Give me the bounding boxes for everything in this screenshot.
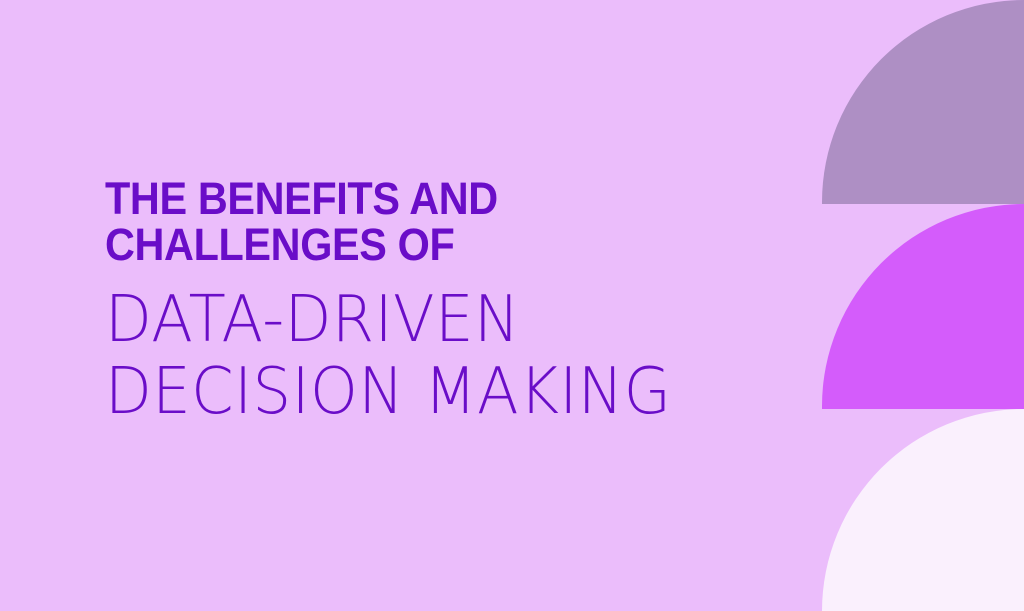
quarter-circle-mauve-shape [822,0,1024,204]
title-text-block: THE BENEFITS AND CHALLENGES OF DATA-DRIV… [105,176,745,428]
page-title-headline: THE BENEFITS AND CHALLENGES OF [105,176,694,268]
page-title-subject: DATA-DRIVEN DECISION MAKING [105,268,713,428]
title-card: THE BENEFITS AND CHALLENGES OF DATA-DRIV… [0,0,1024,611]
decorative-quarter-circle-stack [822,0,1024,611]
quarter-circle-pale-shape [822,409,1024,611]
quarter-circle-magenta-shape [822,204,1024,409]
